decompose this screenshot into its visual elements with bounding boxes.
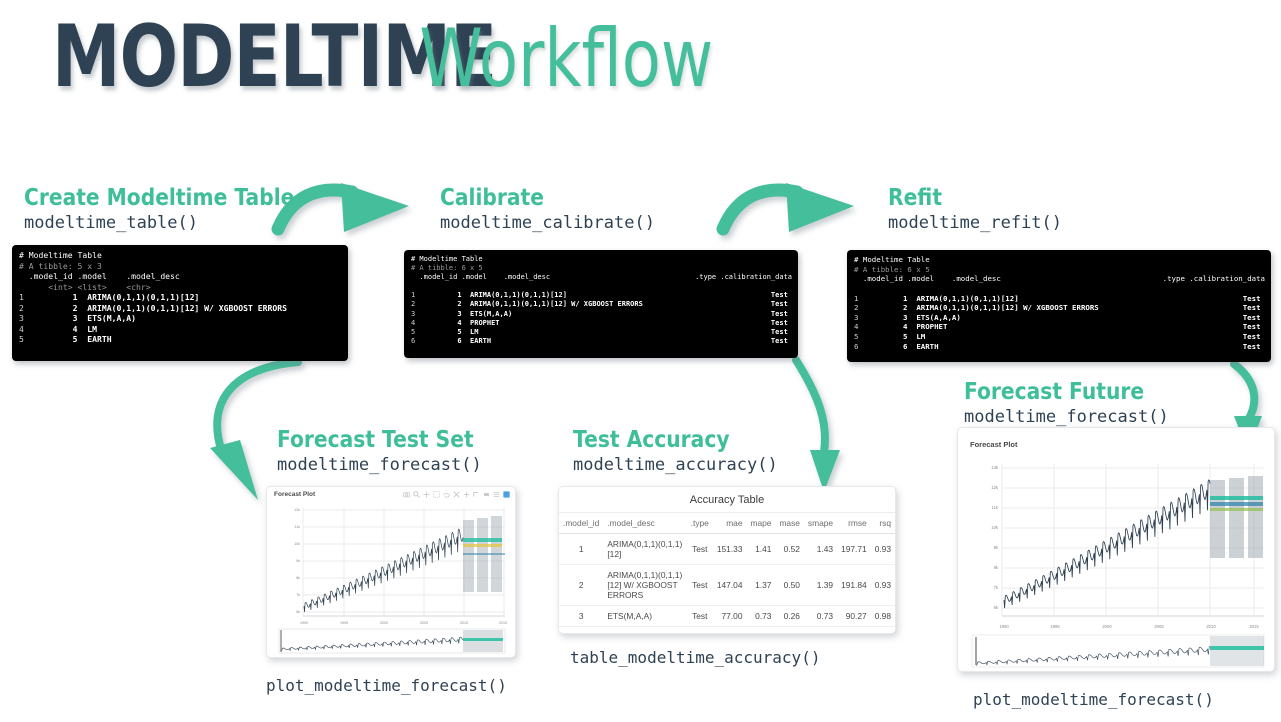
cell-mae: 77.00	[713, 606, 747, 627]
tick-label: 8k	[296, 576, 300, 580]
step-refit: Refit modeltime_refit()	[888, 186, 1062, 235]
forecast-bands	[1210, 476, 1263, 558]
cell-rsq: 0.88	[871, 627, 895, 635]
column-header[interactable]: rmse	[837, 513, 871, 534]
page-title: MODELTIME Workflow	[52, 14, 997, 100]
hover-closest-icon[interactable]	[503, 491, 510, 498]
cell-mae: 151.33	[713, 534, 747, 565]
cell-rmse: 197.71	[837, 534, 871, 565]
tick-label: 9k	[296, 559, 300, 563]
y-axis-ticks: 12k11k10k9k8k7k6k	[294, 508, 300, 614]
tick-label: 9k	[994, 545, 999, 550]
table-header-row: .model_id.model_desc.typemaemapemasesmap…	[559, 513, 895, 534]
cell-model_id: 3	[559, 606, 603, 627]
forecast-future-plot-svg: 13k12k11k10k9k8k7k6k 1990199520002005201…	[958, 452, 1275, 657]
tick-label: 12k	[991, 485, 999, 490]
console-row: 1 1 ARIMA(0,1,1)(0,1,1)[12]Test	[854, 294, 1265, 304]
cell-type: Test	[687, 606, 713, 627]
column-header[interactable]: mae	[713, 513, 747, 534]
tick-label: 7k	[994, 585, 999, 590]
caption-forecast-test-plot: plot_modeltime_forecast()	[266, 676, 507, 695]
plot-title: Forecast Plot	[970, 440, 1018, 449]
tick-label: 10k	[294, 542, 300, 546]
autoscale-icon[interactable]	[473, 491, 480, 498]
cell-rmse: 191.84	[837, 565, 871, 606]
forecast-test-plot-card[interactable]: Forecast Plot	[266, 486, 516, 658]
step-create-modeltime-table: Create Modeltime Table modeltime_table()	[24, 186, 331, 235]
console-dims: # A tibble: 6 x 5	[854, 265, 1265, 275]
tick-label: 1990	[300, 621, 308, 625]
tick-label: 6k	[994, 605, 999, 610]
console-types: <int> <list> <chr>	[19, 282, 342, 293]
cell-rmse: 234.65	[837, 627, 871, 635]
console-row: 2 2 ARIMA(0,1,1)(0,1,1)[12] W/ XGBOOST E…	[19, 303, 342, 314]
console-row: 4 4 LM	[19, 324, 342, 335]
cell-model_id: 1	[559, 534, 603, 565]
pan-icon[interactable]	[423, 491, 430, 498]
step-calibrate: Calibrate modeltime_calibrate()	[440, 186, 655, 235]
tick-label: 2010	[460, 621, 468, 625]
cell-rsq: 0.93	[871, 565, 895, 606]
cell-smape: 0.73	[804, 606, 837, 627]
zoom-icon[interactable]	[413, 491, 420, 498]
accuracy-table[interactable]: .model_id.model_desc.typemaemapemasesmap…	[559, 513, 895, 634]
table-row[interactable]: 4PROPHETTest177.511.700.611.70234.650.88	[559, 627, 895, 635]
cell-smape: 1.43	[804, 534, 837, 565]
console-header-row: .model_id .model .model_desc.type .calib…	[854, 274, 1265, 293]
cell-mape: 1.37	[746, 565, 775, 606]
console-row: 5 5 LMTest	[411, 328, 792, 337]
step-title: Forecast Test Set	[277, 428, 474, 452]
cell-model_desc: ARIMA(0,1,1)(0,1,1)[12] W/ XGBOOST ERROR…	[603, 565, 686, 606]
column-header[interactable]: mape	[746, 513, 775, 534]
console-row: 6 6 EARTHTest	[854, 342, 1265, 352]
tick-label: 1995	[340, 621, 348, 625]
step-title: Refit	[888, 186, 1041, 210]
tick-label: 2000	[1102, 624, 1112, 629]
tick-label: 10k	[991, 525, 999, 530]
tick-label: 1990	[999, 624, 1009, 629]
caption-forecast-future-plot: plot_modeltime_forecast()	[973, 690, 1214, 709]
cell-smape: 1.70	[804, 627, 837, 635]
plot-grid	[303, 508, 505, 616]
cell-mae: 177.51	[713, 627, 747, 635]
accuracy-table-title: Accuracy Table	[559, 487, 895, 513]
reset-axes-icon[interactable]	[483, 491, 490, 498]
tick-label: 11k	[294, 525, 300, 529]
cell-mape: 0.73	[746, 606, 775, 627]
arrow-calibrate-to-accuracy	[796, 360, 840, 492]
range-slider[interactable]	[958, 633, 1275, 669]
tick-label: 8k	[994, 565, 999, 570]
console-modeltime-table: # Modeltime Table # A tibble: 5 x 3 .mod…	[12, 245, 348, 361]
console-headers: .model_id .model .model_desc	[19, 271, 342, 282]
tick-label: 1995	[1050, 624, 1060, 629]
step-code: modeltime_forecast()	[964, 406, 1169, 429]
column-header[interactable]: .model_id	[559, 513, 603, 534]
console-comment: # Modeltime Table	[854, 255, 1265, 265]
console-header-row: .model_id .model .model_desc.type .calib…	[411, 273, 792, 291]
cell-type: Test	[687, 534, 713, 565]
arrow-calibrate-to-refit	[723, 183, 854, 232]
title-accent: Workflow	[420, 19, 714, 99]
box-select-icon[interactable]	[433, 491, 440, 498]
column-header[interactable]: rsq	[871, 513, 895, 534]
step-code: modeltime_forecast()	[277, 454, 500, 477]
x-axis-ticks: 199019952000200520102015	[999, 624, 1259, 629]
column-header[interactable]: .model_desc	[603, 513, 686, 534]
actual-series-line	[1004, 480, 1210, 608]
step-code: modeltime_refit()	[888, 212, 1062, 235]
table-row[interactable]: 1ARIMA(0,1,1)(0,1,1)[12]Test151.331.410.…	[559, 534, 895, 565]
zoom-out-icon[interactable]	[463, 491, 470, 498]
cell-type: Test	[687, 627, 713, 635]
toggle-spikelines-icon[interactable]	[493, 491, 500, 498]
cell-type: Test	[687, 565, 713, 606]
console-row: 4 4 PROPHETTest	[411, 319, 792, 328]
cell-mae: 147.04	[713, 565, 747, 606]
tick-label: 2010	[1206, 624, 1216, 629]
console-comment: # Modeltime Table	[19, 250, 342, 261]
lasso-select-icon[interactable]	[443, 491, 450, 498]
tick-label: 11k	[992, 505, 999, 510]
console-row: 3 3 ETS(M,A,A)	[19, 313, 342, 324]
tick-label: 2015	[1249, 624, 1259, 629]
tick-label: 2015	[499, 621, 507, 625]
console-row: 5 5 EARTH	[19, 334, 342, 345]
caption-accuracy-table: table_modeltime_accuracy()	[570, 648, 820, 667]
console-row: 3 3 ETS(M,A,A)Test	[411, 310, 792, 319]
tick-label: 2000	[380, 621, 388, 625]
tick-label: 12k	[294, 508, 300, 512]
cell-model_desc: ARIMA(0,1,1)(0,1,1)[12]	[603, 534, 686, 565]
cell-model_id: 4	[559, 627, 603, 635]
cell-smape: 1.39	[804, 565, 837, 606]
column-header[interactable]: .type	[687, 513, 713, 534]
accuracy-table-card[interactable]: Accuracy Table .model_id.model_desc.type…	[558, 486, 896, 634]
step-title: Calibrate	[440, 186, 629, 210]
console-headers: .model_id .model .model_desc.type .calib…	[411, 273, 792, 291]
console-headers: .model_id .model .model_desc.type .calib…	[854, 274, 1265, 293]
table-body: 1ARIMA(0,1,1)(0,1,1)[12]Test151.331.410.…	[559, 534, 895, 635]
console-row: 1 1 ARIMA(0,1,1)(0,1,1)[12]	[19, 292, 342, 303]
column-header[interactable]: smape	[804, 513, 837, 534]
console-calibrate-table: # Modeltime Table # A tibble: 6 x 5 .mod…	[404, 250, 798, 358]
cell-mase: 0.50	[775, 565, 803, 606]
cell-mape: 1.70	[746, 627, 775, 635]
x-axis-ticks: 199019952000200520102015	[300, 621, 507, 625]
cell-mase: 0.26	[775, 606, 803, 627]
cell-model_desc: PROPHET	[603, 627, 686, 635]
cell-rsq: 0.98	[871, 606, 895, 627]
camera-icon[interactable]	[403, 491, 410, 498]
tick-label: 2005	[1154, 624, 1164, 629]
column-header[interactable]: mase	[775, 513, 803, 534]
tick-label: 2005	[420, 621, 428, 625]
console-rows: 1 1 ARIMA(0,1,1)(0,1,1)[12]Test 2 2 ARIM…	[854, 294, 1265, 352]
table-row[interactable]: 3ETS(M,A,A)Test77.000.730.260.7390.270.9…	[559, 606, 895, 627]
plot-title: Forecast Plot	[274, 491, 315, 498]
forecast-future-plot-card[interactable]: Forecast Plot 13k12k11k10k9k8k7k6k 199	[957, 427, 1275, 672]
console-dims: # A tibble: 6 x 5	[411, 264, 792, 273]
tick-label: 7k	[296, 593, 300, 597]
plotly-modebar[interactable]	[403, 491, 510, 498]
console-row: 4 4 PROPHETTest	[854, 322, 1265, 332]
console-row: 3 3 ETS(A,A,A)Test	[854, 313, 1265, 323]
console-comment: # Modeltime Table	[411, 255, 792, 264]
cell-mase: 0.52	[775, 534, 803, 565]
step-title: Forecast Future	[964, 380, 1144, 404]
step-title: Test Accuracy	[573, 428, 753, 452]
table-row[interactable]: 2ARIMA(0,1,1)(0,1,1)[12] W/ XGBOOST ERRO…	[559, 565, 895, 606]
cell-model_desc: ETS(M,A,A)	[603, 606, 686, 627]
console-row: 6 6 EARTHTest	[411, 337, 792, 346]
cell-rsq: 0.93	[871, 534, 895, 565]
step-forecast-future: Forecast Future modeltime_forecast()	[964, 380, 1169, 429]
step-forecast-test-set: Forecast Test Set modeltime_forecast()	[277, 428, 500, 477]
cell-model_id: 2	[559, 565, 603, 606]
step-code: modeltime_accuracy()	[573, 454, 778, 477]
console-dims: # A tibble: 5 x 3	[19, 261, 342, 272]
step-code: modeltime_table()	[24, 212, 331, 235]
cell-rmse: 90.27	[837, 606, 871, 627]
cell-mase: 0.61	[775, 627, 803, 635]
y-axis-ticks: 13k12k11k10k9k8k7k6k	[991, 465, 999, 610]
console-row: 1 1 ARIMA(0,1,1)(0,1,1)[12]Test	[411, 291, 792, 300]
cell-mape: 1.41	[746, 534, 775, 565]
range-slider[interactable]	[267, 627, 516, 655]
step-code: modeltime_calibrate()	[440, 212, 655, 235]
console-row: 2 2 ARIMA(0,1,1)(0,1,1)[12] W/ XGBOOST E…	[854, 303, 1265, 313]
console-rows: 1 1 ARIMA(0,1,1)(0,1,1)[12]Test 2 2 ARIM…	[411, 291, 792, 346]
console-refit-table: # Modeltime Table # A tibble: 6 x 5 .mod…	[847, 250, 1271, 362]
tick-label: 13k	[991, 465, 999, 470]
tick-label: 6k	[296, 610, 300, 614]
zoom-in-icon[interactable]	[453, 491, 460, 498]
step-title: Create Modeltime Table	[24, 186, 294, 210]
console-rows: 1 1 ARIMA(0,1,1)(0,1,1)[12]2 2 ARIMA(0,1…	[19, 292, 342, 345]
console-row: 2 2 ARIMA(0,1,1)(0,1,1)[12] W/ XGBOOST E…	[411, 300, 792, 309]
console-row: 5 5 LMTest	[854, 332, 1265, 342]
step-test-accuracy: Test Accuracy modeltime_accuracy()	[573, 428, 778, 477]
